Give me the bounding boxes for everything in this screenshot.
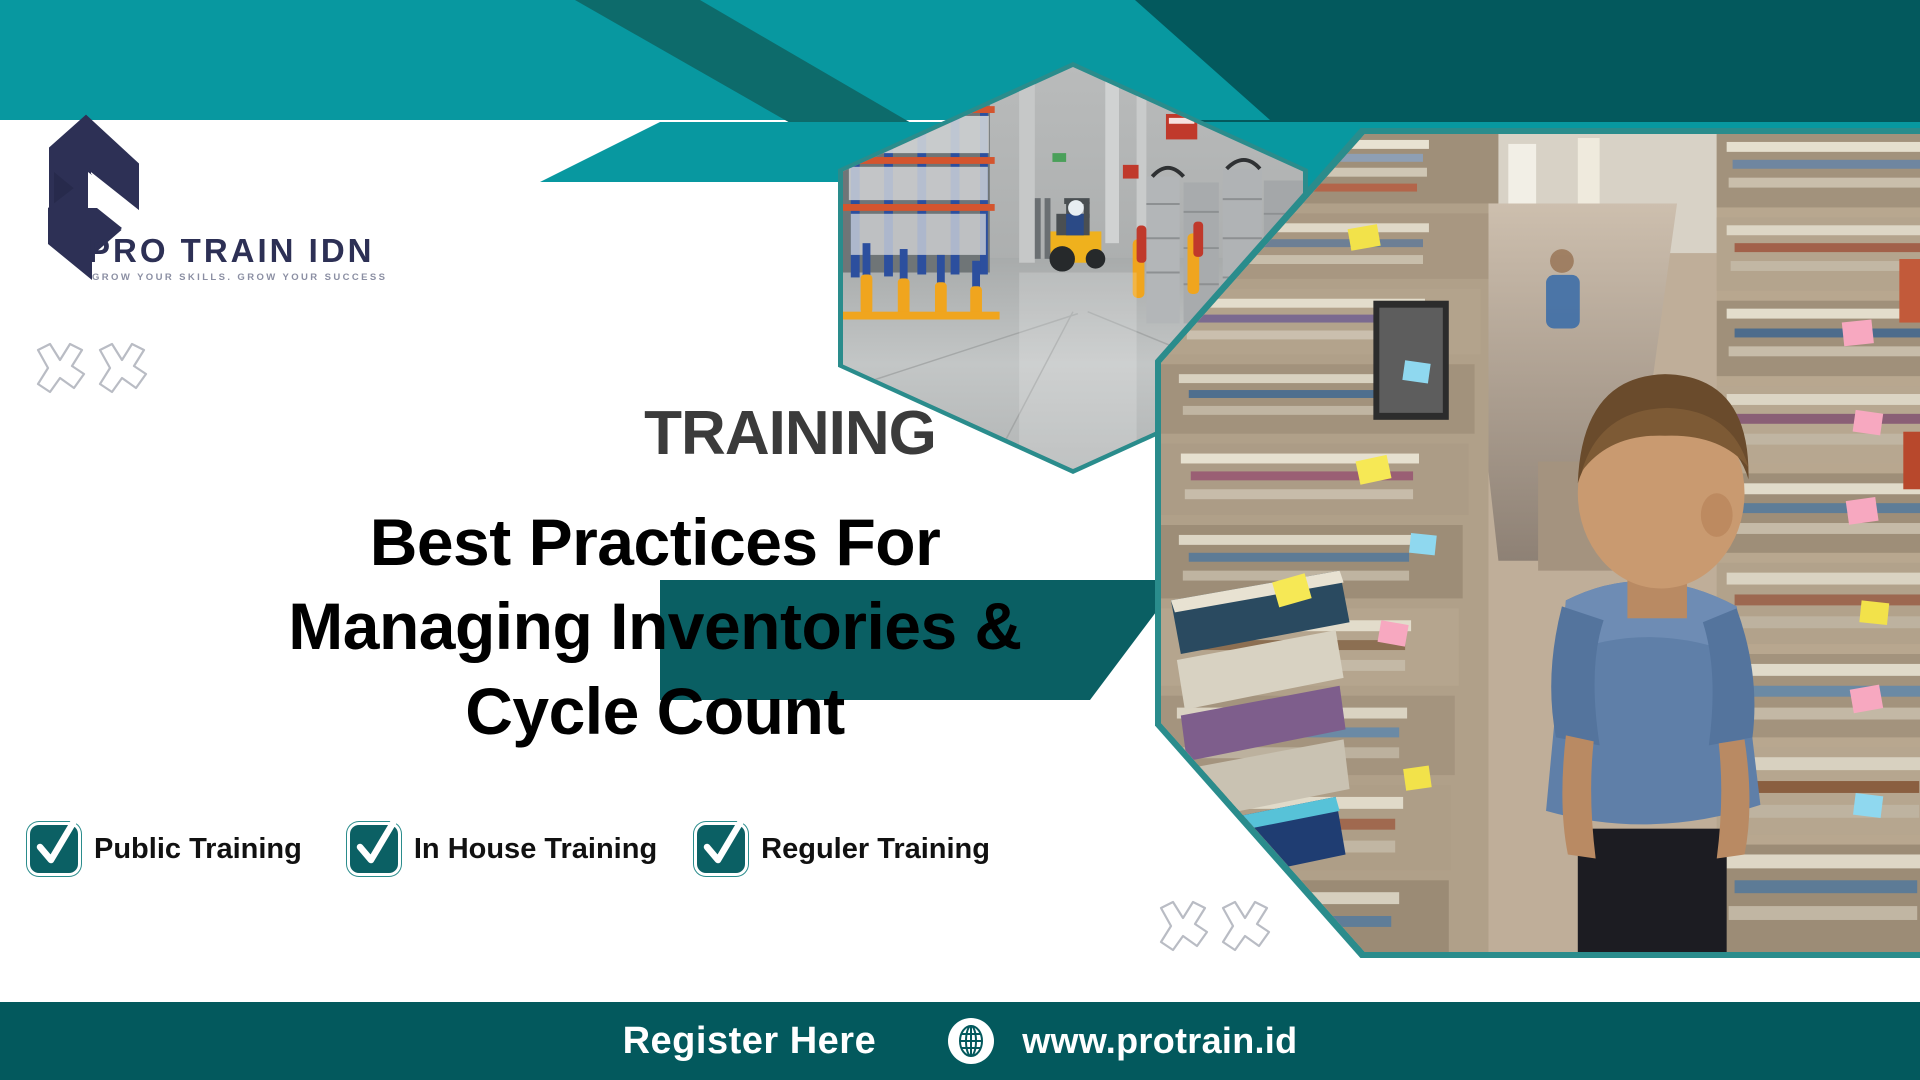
training-option-inhouse[interactable]: In House Training <box>350 825 657 873</box>
register-here-label[interactable]: Register Here <box>623 1020 877 1063</box>
page-title: Best Practices For Managing Inventories … <box>150 500 1160 753</box>
check-icon <box>353 821 397 873</box>
headline-line-1: Best Practices For <box>150 500 1160 584</box>
banner-canvas: PRO TRAIN IDN GROW YOUR SKILLS. GROW YOU… <box>0 0 1920 1080</box>
globe-icon <box>948 1018 994 1064</box>
x-decoration-top-left <box>32 340 152 404</box>
globe-glyph <box>954 1024 988 1058</box>
headline-line-3: Cycle Count <box>150 669 1160 753</box>
headline-line-2: Managing Inventories & <box>150 584 1160 668</box>
double-x-outline-icon <box>1155 898 1275 962</box>
logo-tagline: GROW YOUR SKILLS. GROW YOUR SUCCESS <box>92 272 387 283</box>
website-url[interactable]: www.protrain.id <box>1022 1020 1297 1062</box>
logo-wordmark: PRO TRAIN IDN <box>88 232 375 270</box>
checkbox-checked[interactable] <box>30 825 78 873</box>
hexagon-image-clip <box>1161 134 1920 952</box>
training-option-reguler[interactable]: Reguler Training <box>697 825 990 873</box>
training-option-label: In House Training <box>414 833 657 866</box>
checkbox-checked[interactable] <box>350 825 398 873</box>
x-decoration-bottom <box>1155 898 1275 962</box>
double-x-outline-icon <box>32 340 152 404</box>
check-icon <box>33 821 77 873</box>
bookstore-illustration <box>1161 134 1920 958</box>
training-options-list: Public Training In House Training Regule… <box>30 818 1150 880</box>
training-option-label: Reguler Training <box>761 833 990 866</box>
footer-bar: Register Here www.protrain.id <box>0 1002 1920 1080</box>
check-icon <box>700 821 744 873</box>
bookstore-hexagon-photo <box>1155 128 1920 958</box>
training-option-public[interactable]: Public Training <box>30 825 302 873</box>
training-option-label: Public Training <box>94 833 302 866</box>
eyebrow-training: TRAINING <box>440 398 1140 469</box>
checkbox-checked[interactable] <box>697 825 745 873</box>
